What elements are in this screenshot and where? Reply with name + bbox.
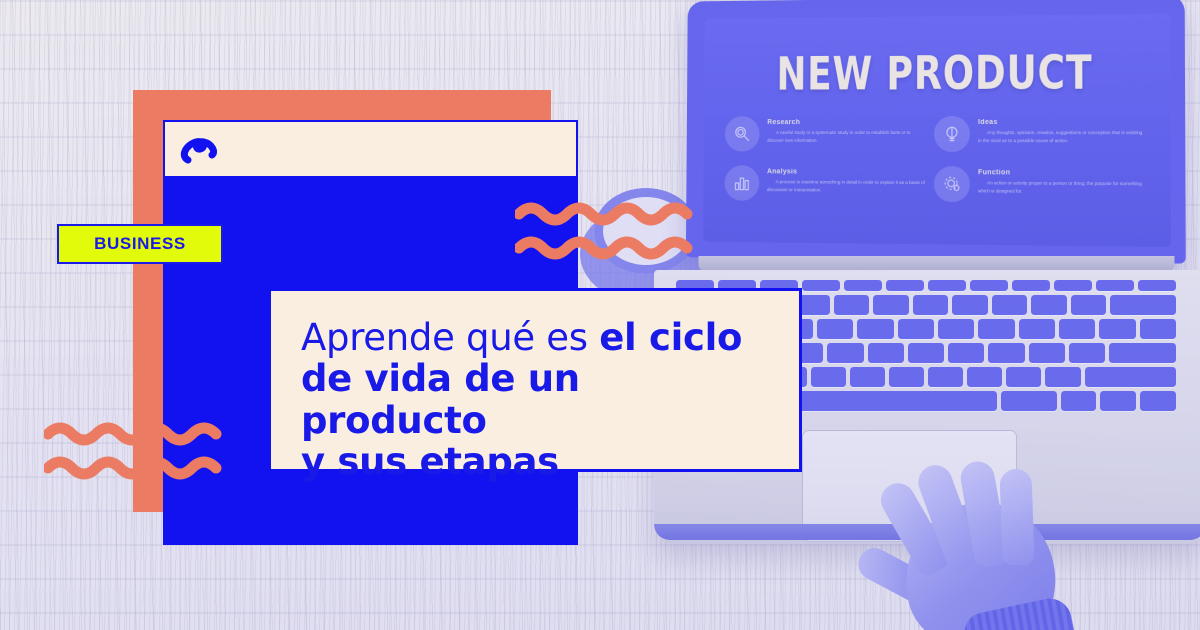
cream-top-bar [163, 120, 578, 178]
title-bold-part-3: y sus etapas [301, 440, 559, 483]
category-badge-label: BUSINESS [94, 234, 186, 254]
page-title: Aprende qué es el ciclo de vida de un pr… [301, 317, 769, 483]
wavy-line-icon [515, 198, 715, 265]
title-bold-part-1: el ciclo [599, 316, 742, 359]
loop-doodle-icon [178, 130, 222, 171]
title-bold-part-2: de vida de un producto [301, 357, 580, 441]
wavy-line-icon [44, 418, 244, 485]
title-regular-part: Aprende qué es [301, 316, 599, 359]
category-badge: BUSINESS [57, 224, 223, 264]
title-card: Aprende qué es el ciclo de vida de un pr… [268, 288, 802, 472]
